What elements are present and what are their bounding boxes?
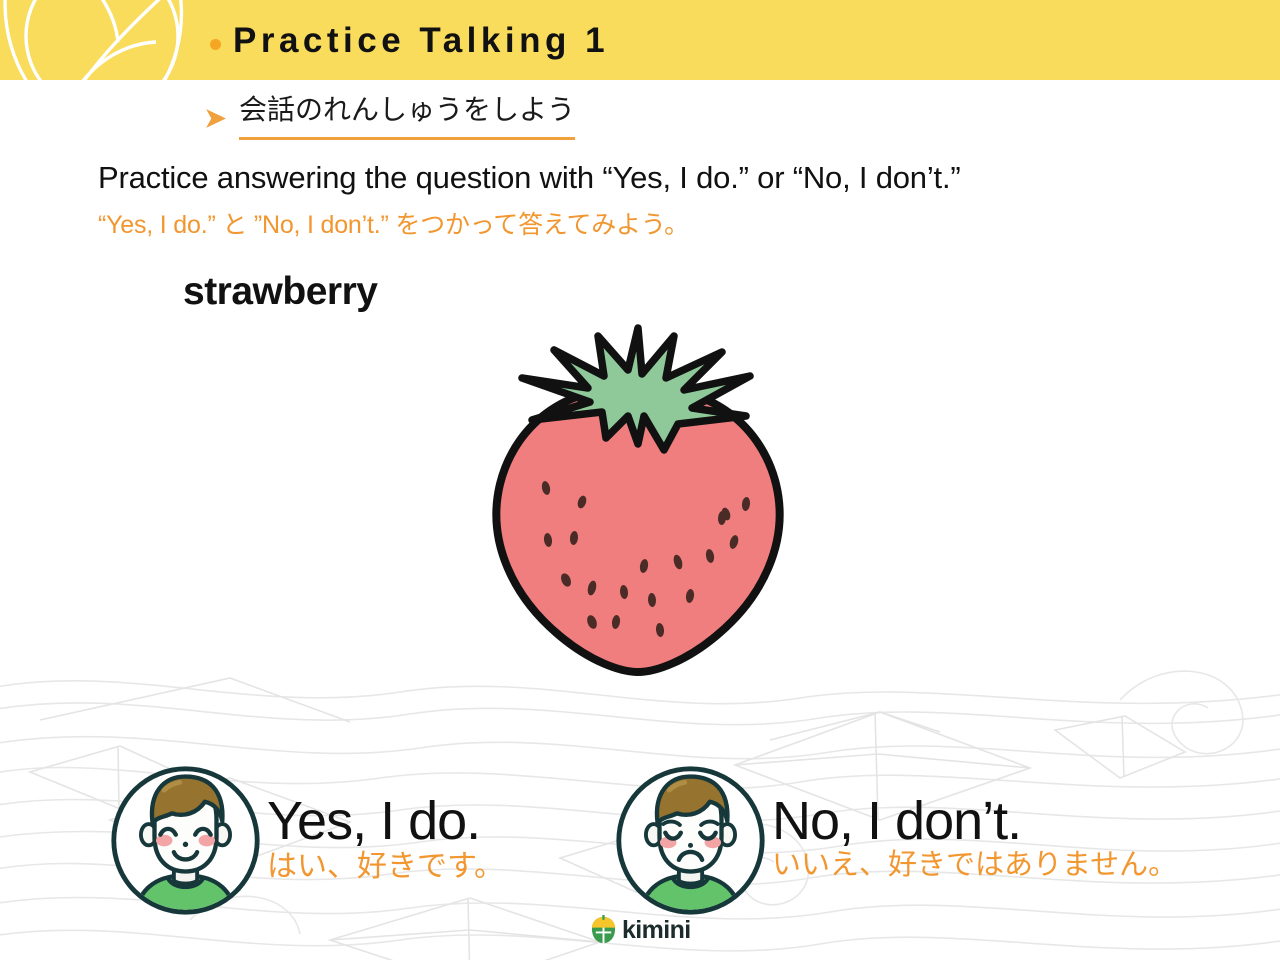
subtitle-row: 会話のれんしゅうをしよう — [203, 95, 575, 140]
triangle-right-icon — [203, 106, 228, 131]
answer-english-no: No, I don’t. — [772, 796, 1177, 848]
strawberry-illustration — [478, 312, 798, 677]
dot-icon — [210, 39, 221, 50]
subtitle-japanese: 会話のれんしゅうをしよう — [239, 95, 575, 140]
answer-text-no: No, I don’t. いいえ、好きではありません。 — [772, 796, 1177, 882]
answer-english-yes: Yes, I do. — [267, 796, 504, 848]
answer-option-no[interactable]: No, I don’t. いいえ、好きではありません。 — [613, 763, 1177, 918]
kimini-logo: kimini — [590, 915, 691, 946]
page-title: Practice Talking 1 — [233, 23, 609, 58]
instruction-japanese: “Yes, I do.” と ”No, I don’t.” をつかって答えてみよ… — [98, 205, 689, 241]
header-title-wrap: Practice Talking 1 — [210, 0, 609, 80]
instruction-english: Practice answering the question with “Ye… — [98, 160, 961, 196]
header-bar: Practice Talking 1 — [0, 0, 1280, 80]
leaf-swirl-decoration — [0, 0, 240, 80]
happy-boy-avatar — [108, 763, 263, 918]
answer-option-yes[interactable]: Yes, I do. はい、好きです。 — [108, 763, 504, 918]
answer-japanese-no: いいえ、好きではありません。 — [772, 850, 1177, 882]
answer-text-yes: Yes, I do. はい、好きです。 — [267, 796, 504, 883]
kimini-acorn-icon — [590, 915, 617, 946]
kimini-logo-text: kimini — [622, 918, 691, 943]
answer-japanese-yes: はい、好きです。 — [267, 850, 504, 883]
vocabulary-word: strawberry — [183, 270, 377, 314]
sad-boy-avatar — [613, 763, 768, 918]
